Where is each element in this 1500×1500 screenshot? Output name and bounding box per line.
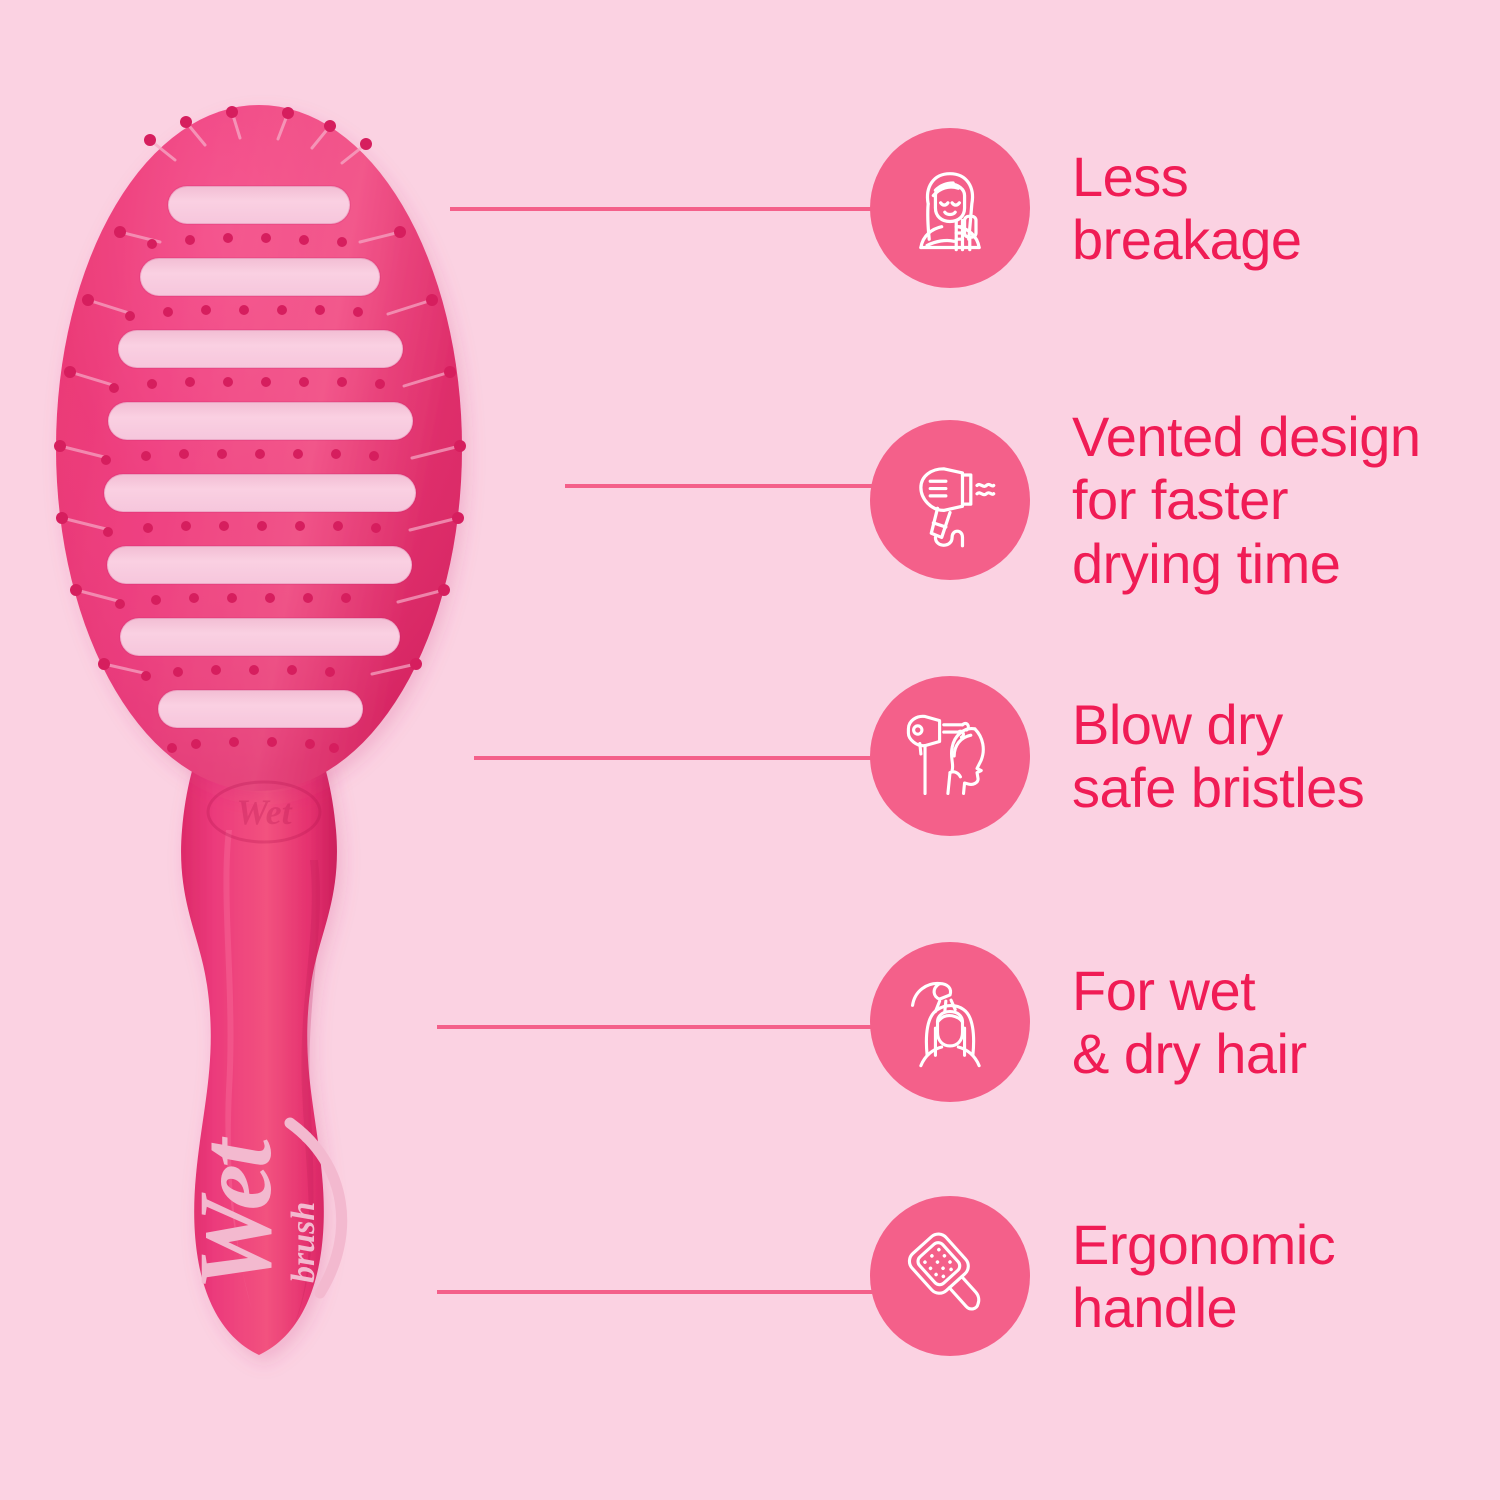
dryer-and-face-profile-icon xyxy=(898,704,1002,808)
badge-blow-dry-safe xyxy=(870,676,1030,836)
hair-dryer-icon xyxy=(898,448,1002,552)
badge-less-breakage xyxy=(870,128,1030,288)
feature-item-blow-dry-safe[interactable]: Blow dry safe bristles xyxy=(870,676,1364,836)
badge-wet-and-dry xyxy=(870,942,1030,1102)
feature-label-blow-dry-safe: Blow dry safe bristles xyxy=(1072,693,1364,820)
feature-label-wet-and-dry: For wet & dry hair xyxy=(1072,959,1307,1086)
feature-item-vented-design[interactable]: Vented design for faster drying time xyxy=(870,405,1420,595)
feature-list: Less breakage xyxy=(0,0,1500,1500)
woman-brushing-hair-icon xyxy=(898,156,1002,260)
badge-ergonomic-handle xyxy=(870,1196,1030,1356)
feature-item-less-breakage[interactable]: Less breakage xyxy=(870,128,1302,288)
feature-item-wet-and-dry[interactable]: For wet & dry hair xyxy=(870,942,1307,1102)
badge-vented-design xyxy=(870,420,1030,580)
feature-label-less-breakage: Less breakage xyxy=(1072,145,1302,272)
feature-label-ergonomic-handle: Ergonomic handle xyxy=(1072,1213,1335,1340)
feature-item-ergonomic-handle[interactable]: Ergonomic handle xyxy=(870,1196,1335,1356)
feature-label-vented-design: Vented design for faster drying time xyxy=(1072,405,1420,595)
infographic-canvas: Wet Wet brush ® xyxy=(0,0,1500,1500)
paddle-brush-icon xyxy=(898,1224,1002,1328)
shower-head-woman-icon xyxy=(898,970,1002,1074)
